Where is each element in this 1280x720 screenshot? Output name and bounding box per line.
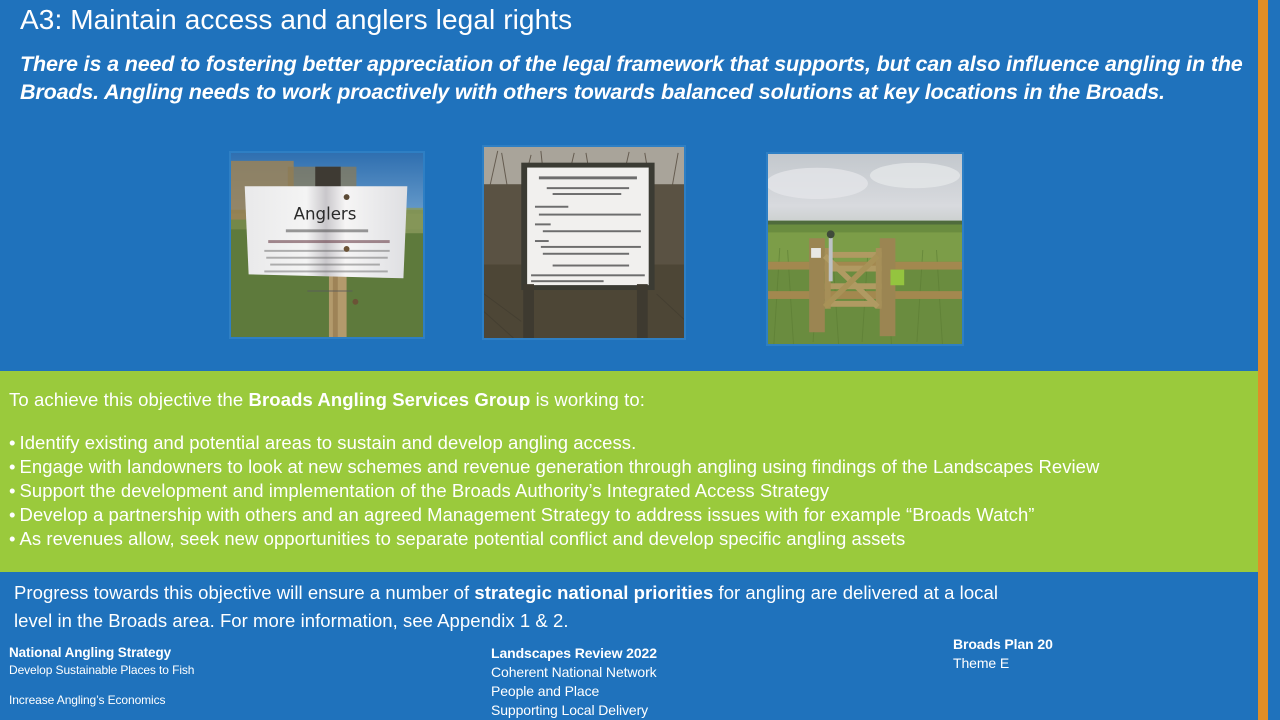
- reference-landscapes-review: Landscapes Review 2022 Coherent National…: [491, 644, 657, 720]
- list-item: •Develop a partnership with others and a…: [9, 503, 1249, 527]
- objectives-group-name: Broads Angling Services Group: [249, 389, 531, 410]
- svg-text:Anglers: Anglers: [294, 205, 357, 224]
- progress-before: Progress towards this objective will ens…: [14, 582, 474, 603]
- gate-access-photo: [766, 152, 964, 346]
- bullet-marker-icon: •: [9, 480, 16, 501]
- reference-broads-plan: Broads Plan 20 Theme E: [953, 635, 1053, 673]
- bullet-marker-icon: •: [9, 456, 16, 477]
- reference-item: Develop Sustainable Places to Fish: [9, 662, 194, 679]
- reference-item: Theme E: [953, 654, 1053, 673]
- list-item-label: Identify existing and potential areas to…: [20, 432, 637, 453]
- list-item-label: Develop a partnership with others and an…: [20, 504, 1035, 525]
- objectives-intro-after: is working to:: [530, 389, 645, 410]
- objectives-intro: To achieve this objective the Broads Ang…: [9, 389, 645, 411]
- list-item: •Support the development and implementat…: [9, 479, 1249, 503]
- bullet-marker-icon: •: [9, 528, 16, 549]
- list-item-label: Engage with landowners to look at new sc…: [20, 456, 1100, 477]
- page-title: A3: Maintain access and anglers legal ri…: [20, 2, 1230, 38]
- reference-national-angling-strategy: National Angling Strategy Develop Sustai…: [9, 643, 194, 709]
- list-item: •As revenues allow, seek new opportuniti…: [9, 527, 1249, 551]
- bullet-marker-icon: •: [9, 504, 16, 525]
- list-item-label: As revenues allow, seek new opportunitie…: [20, 528, 906, 549]
- progress-highlight: strategic national priorities: [474, 582, 713, 603]
- anglers-sign-photo: Anglers: [229, 151, 425, 339]
- reference-heading: Broads Plan 20: [953, 635, 1053, 654]
- reference-heading: National Angling Strategy: [9, 643, 194, 662]
- reference-item: People and Place: [491, 682, 657, 701]
- list-item: •Identify existing and potential areas t…: [9, 431, 1249, 455]
- progress-statement: Progress towards this objective will ens…: [14, 579, 1014, 635]
- slide-subtitle: There is a need to fostering better appr…: [20, 50, 1245, 106]
- orange-accent-bar: [1258, 0, 1268, 720]
- photo-strip: Anglers: [0, 145, 1258, 355]
- subtitle-tail: in the Broads.: [1024, 80, 1165, 104]
- list-item: •Engage with landowners to look at new s…: [9, 455, 1249, 479]
- objectives-intro-before: To achieve this objective the: [9, 389, 249, 410]
- slide: A3: Maintain access and anglers legal ri…: [0, 0, 1280, 720]
- reference-item: Coherent National Network: [491, 663, 657, 682]
- reference-item: Supporting Local Delivery: [491, 701, 657, 720]
- objectives-bullet-list: •Identify existing and potential areas t…: [9, 431, 1249, 551]
- list-item-label: Support the development and implementati…: [20, 480, 830, 501]
- bullet-marker-icon: •: [9, 432, 16, 453]
- blue-edge-bar: [1268, 0, 1280, 720]
- reference-heading: Landscapes Review 2022: [491, 644, 657, 663]
- reference-item: Increase Angling’s Economics: [9, 692, 194, 709]
- reference-spacer: [9, 679, 194, 692]
- notice-board-photo: [482, 145, 686, 340]
- objectives-band: To achieve this objective the Broads Ang…: [0, 371, 1258, 572]
